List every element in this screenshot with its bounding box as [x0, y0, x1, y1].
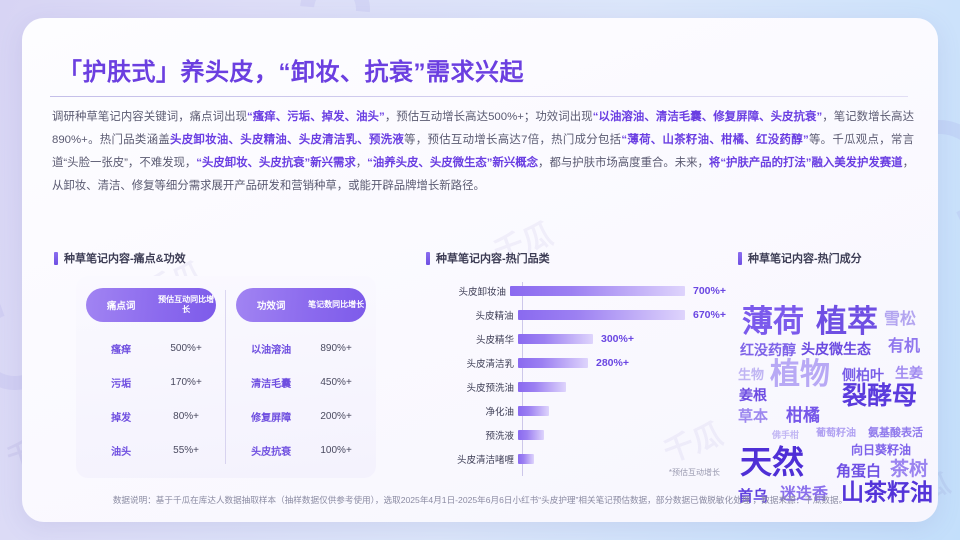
bar	[518, 454, 534, 464]
cell-value: 200%+	[306, 411, 366, 422]
pain-point-efficacy-table: 痛点词 预估互动同比增长 瘙痒 500%+ 污垢 170%+ 掉发 80%+ 油…	[76, 276, 376, 478]
body-text: ，都与护肤市场高度重合。未来，	[538, 157, 709, 169]
table-header-keyword: 功效词	[236, 298, 306, 312]
word-cloud-term: 雪松	[884, 312, 916, 328]
title-divider	[50, 96, 908, 97]
bar-row: 预洗液	[426, 424, 726, 445]
chart-note: *预估互动增长	[669, 467, 720, 478]
cell-keyword: 头皮抗衰	[236, 443, 306, 458]
word-cloud-term: 生物	[738, 368, 764, 381]
word-cloud-term: 氨基酸表活	[868, 428, 923, 439]
bar	[518, 406, 549, 416]
page-title: 「护肤式」养头皮，“卸妆、抗衰”需求兴起	[58, 52, 524, 87]
table-header-row: 痛点词 预估互动同比增长	[86, 288, 216, 322]
bar-category-label: 预洗液	[426, 428, 518, 442]
cell-keyword: 掉发	[86, 409, 156, 424]
bar-row: 头皮精油670%+	[426, 304, 726, 325]
table-header-row: 功效词 笔记数同比增长	[236, 288, 366, 322]
highlight-text: 头皮卸妆油、头皮精油、头皮清洁乳、预洗液	[170, 134, 404, 146]
bar-value-label: 670%+	[693, 309, 726, 321]
highlight-text: 将“护肤产品的打法”融入美发护发赛道	[709, 157, 903, 169]
word-cloud-term: 植物	[770, 360, 830, 390]
table-header-growth: 笔记数同比增长	[306, 300, 366, 310]
word-cloud-term: 佛手柑	[772, 431, 799, 440]
bar-category-label: 净化油	[426, 404, 518, 418]
bar-category-label: 头皮清洁啫喱	[426, 452, 518, 466]
bar-row: 头皮清洁乳280%+	[426, 352, 726, 373]
table-row: 修复屏障 200%+	[236, 400, 366, 433]
highlight-text: “瘙痒、污垢、掉发、油头”	[247, 111, 385, 123]
bar-row: 头皮预洗油	[426, 376, 726, 397]
table-header-keyword: 痛点词	[86, 298, 156, 312]
body-text: 等，预估互动增长高达7倍，热门成分包括	[404, 134, 621, 146]
bar-category-label: 头皮预洗油	[426, 380, 518, 394]
bar-row: 净化油	[426, 400, 726, 421]
main-card: 千瓜 千瓜 千瓜 千瓜 「护肤式」养头皮，“卸妆、抗衰”需求兴起 调研种草笔记内…	[22, 18, 938, 522]
cell-value: 100%+	[306, 445, 366, 456]
summary-paragraph: 调研种草笔记内容关键词，痛点词出现“瘙痒、污垢、掉发、油头”，预估互动增长高达5…	[52, 106, 914, 198]
word-cloud-term: 葡萄籽油	[816, 429, 856, 439]
bar	[518, 310, 686, 320]
highlight-text: “以油溶油、清洁毛囊、修复屏障、头皮抗衰”	[593, 111, 822, 123]
body-text: 调研种草笔记内容关键词，痛点词出现	[52, 111, 247, 123]
word-cloud-term: 植萃	[816, 306, 878, 337]
bar-row: 头皮卸妆油700%+	[426, 280, 726, 301]
bar-track: 670%+	[518, 304, 727, 325]
bar	[518, 382, 566, 392]
table-left-half: 痛点词 预估互动同比增长 瘙痒 500%+ 污垢 170%+ 掉发 80%+ 油…	[76, 276, 226, 478]
cell-value: 170%+	[156, 377, 216, 388]
table-row: 以油溶油 890%+	[236, 332, 366, 365]
word-cloud-term: 红没药醇	[740, 343, 796, 357]
bar-category-label: 头皮卸妆油	[426, 284, 510, 298]
body-text: ，预估互动增长高达500%+；功效词出现	[385, 111, 593, 123]
highlight-text: “薄荷、山茶籽油、柑橘、红没药醇”	[621, 134, 808, 146]
table-row: 头皮抗衰 100%+	[236, 434, 366, 467]
cell-keyword: 瘙痒	[86, 341, 156, 356]
cell-keyword: 以油溶油	[236, 341, 306, 356]
bar-track: 300%+	[518, 328, 726, 349]
bar-track	[518, 448, 726, 469]
word-cloud-term: 天然	[740, 446, 804, 478]
bar-category-label: 头皮精华	[426, 332, 518, 346]
cell-value: 450%+	[306, 377, 366, 388]
word-cloud-term: 薄荷	[742, 306, 804, 337]
bar	[518, 334, 593, 344]
bar	[518, 430, 544, 440]
cell-keyword: 油头	[86, 443, 156, 458]
bar-track	[518, 376, 726, 397]
table-right-half: 功效词 笔记数同比增长 以油溶油 890%+ 清洁毛囊 450%+ 修复屏障 2…	[226, 276, 376, 478]
cell-keyword: 修复屏障	[236, 409, 306, 424]
cell-keyword: 污垢	[86, 375, 156, 390]
word-cloud-term: 姜根	[739, 388, 767, 402]
bar	[510, 286, 685, 296]
bar-track: 700%+	[510, 280, 726, 301]
bar-row: 头皮精华300%+	[426, 328, 726, 349]
cell-value: 55%+	[156, 445, 216, 456]
bar-track: 280%+	[518, 352, 726, 373]
cell-value: 80%+	[156, 411, 216, 422]
section-heading-table: 种草笔记内容-痛点&功效	[54, 250, 186, 266]
word-cloud-term: 头皮微生态	[801, 342, 871, 356]
bar-track	[518, 424, 726, 445]
section-heading-cloud: 种草笔记内容-热门成分	[738, 250, 862, 266]
bar-value-label: 280%+	[596, 357, 629, 369]
cell-value: 500%+	[156, 343, 216, 354]
hot-category-bar-chart: 头皮卸妆油700%+头皮精油670%+头皮精华300%+头皮清洁乳280%+头皮…	[426, 280, 726, 480]
table-row: 瘙痒 500%+	[86, 332, 216, 365]
bar-category-label: 头皮清洁乳	[426, 356, 518, 370]
cell-keyword: 清洁毛囊	[236, 375, 306, 390]
table-row: 污垢 170%+	[86, 366, 216, 399]
section-heading-bars: 种草笔记内容-热门品类	[426, 250, 550, 266]
bar-category-label: 头皮精油	[426, 308, 518, 322]
table-header-growth: 预估互动同比增长	[156, 295, 216, 315]
word-cloud-term: 裂酵母	[842, 384, 917, 409]
word-cloud-term: 生姜	[895, 366, 923, 380]
word-cloud-term: 柑橘	[786, 407, 820, 424]
word-cloud-term: 侧柏叶	[842, 368, 884, 382]
word-cloud-term: 草本	[738, 409, 768, 424]
cell-value: 890%+	[306, 343, 366, 354]
highlight-text: “头皮卸妆、头皮抗衰”新兴需求	[196, 157, 355, 169]
word-cloud-term: 角蛋白	[836, 464, 881, 479]
body-text: ，	[356, 157, 367, 169]
table-row: 掉发 80%+	[86, 400, 216, 433]
word-cloud-term: 向日葵籽油	[851, 444, 911, 456]
bar-value-label: 700%+	[693, 285, 726, 297]
footer-note: 数据说明：基于千瓜在库达人数据抽取样本（抽样数据仅供参考使用），选取2025年4…	[22, 494, 938, 506]
table-row: 油头 55%+	[86, 434, 216, 467]
bar-value-label: 300%+	[601, 333, 634, 345]
bar	[518, 358, 588, 368]
hot-ingredient-word-cloud: 薄荷植萃雪松红没药醇头皮微生态有机生物植物侧柏叶生姜姜根裂酵母草本柑橘佛手柑葡萄…	[738, 276, 938, 478]
word-cloud-term: 有机	[888, 339, 920, 355]
bar-row: 头皮清洁啫喱	[426, 448, 726, 469]
table-row: 清洁毛囊 450%+	[236, 366, 366, 399]
bar-track	[518, 400, 726, 421]
word-cloud-term: 茶树	[890, 460, 928, 479]
highlight-text: “油养头皮、头皮微生态”新兴概念	[367, 157, 538, 169]
